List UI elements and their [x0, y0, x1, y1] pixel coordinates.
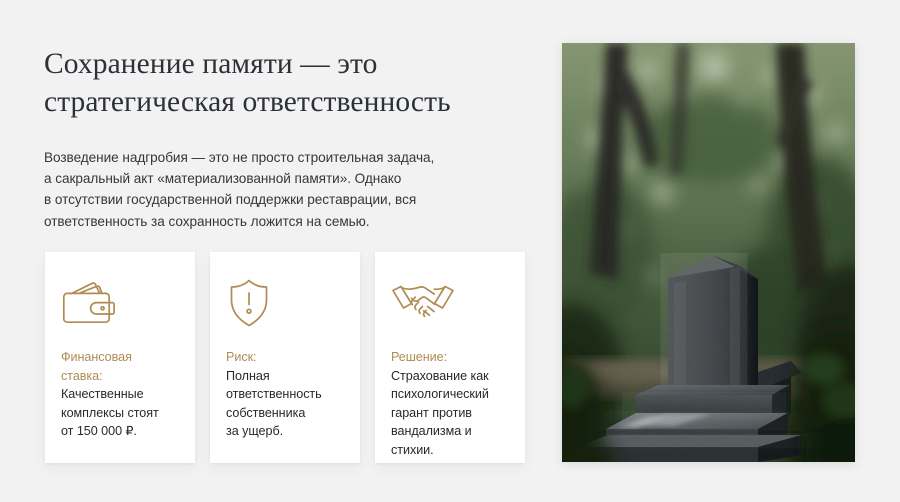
- wallet-icon: [61, 274, 179, 332]
- page-title-line-2: стратегическая ответственность: [44, 83, 544, 121]
- page-title: Сохранение памяти — это стратегическая о…: [44, 45, 544, 121]
- slide-root: Сохранение памяти — это стратегическая о…: [0, 0, 900, 502]
- info-card-financial[interactable]: Финансовая ставка: Качественные комплекс…: [45, 252, 195, 463]
- intro-paragraph-line-2: а сакральный акт «материализованной памя…: [44, 168, 524, 189]
- info-card-financial-label: Финансовая ставка:: [61, 348, 179, 385]
- granite-monument-photo: [562, 43, 855, 462]
- info-card-list: Финансовая ставка: Качественные комплекс…: [45, 252, 525, 463]
- info-card-risk-text: Полная ответственность собственника за у…: [226, 367, 344, 441]
- info-card-solution[interactable]: Решение: Страхование как психологический…: [375, 252, 525, 463]
- intro-paragraph-line-1: Возведение надгробия — это не просто стр…: [44, 147, 524, 168]
- intro-paragraph-line-3: в отсутствии государственной поддержки р…: [44, 189, 524, 210]
- intro-paragraph-line-4: ответственность за сохранность ложится н…: [44, 211, 524, 232]
- page-title-line-1: Сохранение памяти — это: [44, 45, 544, 83]
- info-card-solution-body: Решение: Страхование как психологический…: [391, 348, 509, 460]
- left-content-column: Сохранение памяти — это стратегическая о…: [0, 0, 562, 502]
- info-card-solution-text: Страхование как психологический гарант п…: [391, 367, 509, 460]
- shield-alert-icon: [226, 274, 344, 332]
- handshake-icon: [391, 274, 509, 332]
- intro-paragraph: Возведение надгробия — это не просто стр…: [44, 147, 524, 232]
- info-card-solution-label: Решение:: [391, 348, 509, 367]
- info-card-risk-body: Риск: Полная ответственность собственник…: [226, 348, 344, 441]
- info-card-financial-body: Финансовая ставка: Качественные комплекс…: [61, 348, 179, 441]
- info-card-risk[interactable]: Риск: Полная ответственность собственник…: [210, 252, 360, 463]
- info-card-financial-text: Качественные комплексы стоят от 150 000 …: [61, 385, 179, 441]
- info-card-risk-label: Риск:: [226, 348, 344, 367]
